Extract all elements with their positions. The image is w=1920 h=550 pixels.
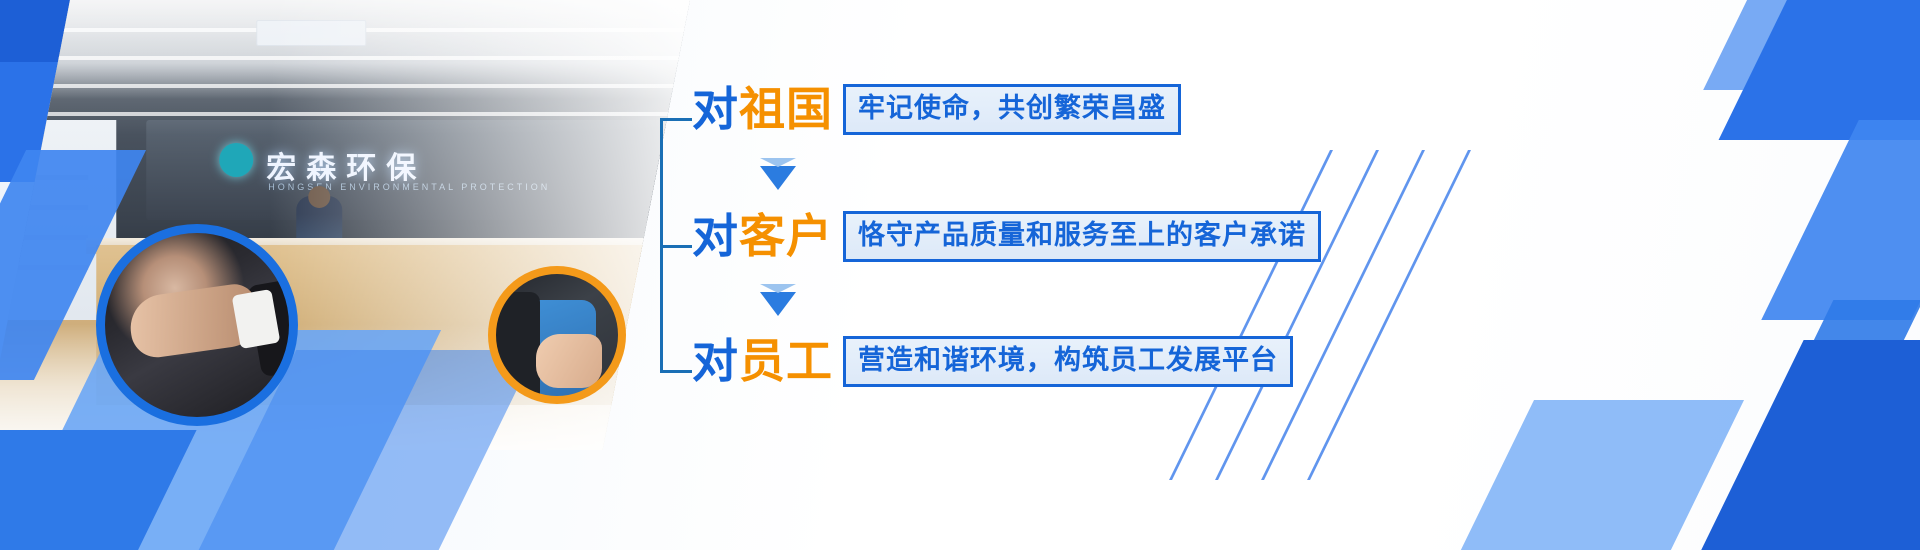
value-row-country: 对祖国 牢记使命，共创繁荣昌盛 [692, 84, 1181, 135]
value-target: 祖国 [739, 83, 833, 135]
value-target: 客户 [739, 210, 833, 262]
value-row-employee: 对员工 营造和谐环境，构筑员工发展平台 [692, 336, 1293, 387]
down-triangle-icon [760, 292, 796, 316]
value-target: 员工 [739, 335, 833, 387]
value-statement-customer: 恪守产品质量和服务至上的客户承诺 [843, 211, 1321, 262]
value-label-country: 对祖国 [692, 86, 839, 132]
value-prefix: 对 [692, 210, 739, 262]
applause-circle-ring [488, 266, 626, 404]
corporate-values-banner: 宏森环保 HONGSEN ENVIRONMENTAL PROTECTION [0, 0, 1920, 550]
value-row-customer: 对客户 恪守产品质量和服务至上的客户承诺 [692, 211, 1321, 262]
handshake-circle-ring [96, 224, 298, 426]
values-content: 对祖国 牢记使命，共创繁荣昌盛 对客户 恪守产品质量和服务至上的客户承诺 对员工… [650, 70, 1470, 400]
value-statement-country: 牢记使命，共创繁荣昌盛 [843, 84, 1181, 135]
connector-tick-1 [660, 118, 692, 121]
value-statement-employee: 营造和谐环境，构筑员工发展平台 [843, 336, 1293, 387]
value-prefix: 对 [692, 335, 739, 387]
connector-tick-3 [660, 370, 692, 373]
down-triangle-icon [760, 166, 796, 190]
value-label-customer: 对客户 [692, 213, 839, 259]
value-prefix: 对 [692, 83, 739, 135]
value-label-employee: 对员工 [692, 338, 839, 384]
connector-tick-2 [660, 245, 692, 248]
